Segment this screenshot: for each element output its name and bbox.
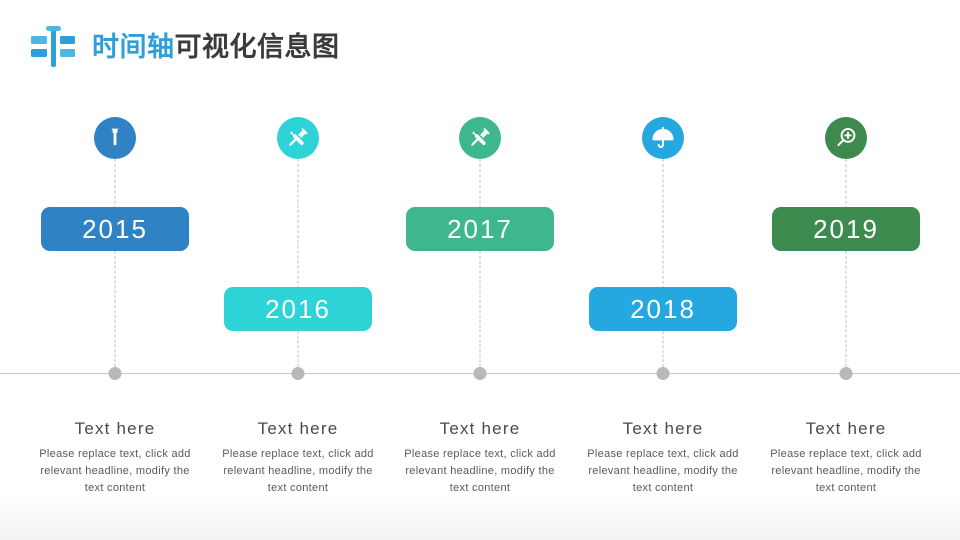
connector-dash-2016 bbox=[298, 159, 299, 289]
caption-body-2017: Please replace text, click add relevant … bbox=[387, 446, 573, 497]
year-pill-2019[interactable]: 2019 bbox=[772, 207, 920, 251]
page-title-accent: 时间轴 bbox=[92, 32, 175, 62]
connector-dash-lower-2016 bbox=[298, 331, 299, 367]
timeline-logo-icon bbox=[30, 26, 76, 68]
connector-dash-2018 bbox=[663, 159, 664, 289]
caption-2019: Text here Please replace text, click add… bbox=[753, 420, 939, 497]
connector-dash-lower-2017 bbox=[480, 251, 481, 367]
caption-2018: Text here Please replace text, click add… bbox=[570, 420, 756, 497]
marker-circle-2018[interactable] bbox=[642, 117, 684, 159]
year-pill-2016[interactable]: 2016 bbox=[224, 287, 372, 331]
axis-dot-2016 bbox=[292, 367, 305, 380]
axis-dot-2017 bbox=[474, 367, 487, 380]
year-label-2017: 2017 bbox=[447, 216, 513, 242]
timeline-item-2019[interactable]: 2019 Text here Please replace text, clic… bbox=[753, 0, 939, 540]
page-title-rest: 可视化信息图 bbox=[175, 32, 340, 62]
year-label-2015: 2015 bbox=[82, 216, 148, 242]
connector-dash-lower-2019 bbox=[846, 251, 847, 367]
caption-2015: Text here Please replace text, click add… bbox=[22, 420, 208, 497]
year-pill-2015[interactable]: 2015 bbox=[41, 207, 189, 251]
page-header: 时间轴可视化信息图 bbox=[30, 24, 340, 70]
caption-title-2018: Text here bbox=[570, 420, 756, 437]
caption-body-2018: Please replace text, click add relevant … bbox=[570, 446, 756, 497]
caption-body-2016: Please replace text, click add relevant … bbox=[205, 446, 391, 497]
caption-title-2019: Text here bbox=[753, 420, 939, 437]
year-label-2016: 2016 bbox=[265, 296, 331, 322]
connector-dash-lower-2015 bbox=[115, 251, 116, 367]
year-pill-2018[interactable]: 2018 bbox=[589, 287, 737, 331]
caption-title-2017: Text here bbox=[387, 420, 573, 437]
caption-body-2019: Please replace text, click add relevant … bbox=[753, 446, 939, 497]
connector-dash-2015 bbox=[115, 159, 116, 209]
year-label-2019: 2019 bbox=[813, 216, 879, 242]
timeline-item-2018[interactable]: 2018 Text here Please replace text, clic… bbox=[570, 0, 756, 540]
page-title: 时间轴可视化信息图 bbox=[92, 34, 340, 61]
year-pill-2017[interactable]: 2017 bbox=[406, 207, 554, 251]
axis-dot-2018 bbox=[657, 367, 670, 380]
timeline-item-2015[interactable]: 2015 Text here Please replace text, clic… bbox=[22, 0, 208, 540]
connector-dash-2019 bbox=[846, 159, 847, 209]
marker-circle-2015[interactable] bbox=[94, 117, 136, 159]
connector-dash-lower-2018 bbox=[663, 331, 664, 367]
marker-circle-2019[interactable] bbox=[825, 117, 867, 159]
marker-circle-2016[interactable] bbox=[277, 117, 319, 159]
caption-title-2016: Text here bbox=[205, 420, 391, 437]
axis-dot-2015 bbox=[109, 367, 122, 380]
axis-dot-2019 bbox=[840, 367, 853, 380]
timeline-item-2017[interactable]: 2017 Text here Please replace text, clic… bbox=[387, 0, 573, 540]
caption-2016: Text here Please replace text, click add… bbox=[205, 420, 391, 497]
caption-2017: Text here Please replace text, click add… bbox=[387, 420, 573, 497]
timeline-item-2016[interactable]: 2016 Text here Please replace text, clic… bbox=[205, 0, 391, 540]
caption-body-2015: Please replace text, click add relevant … bbox=[22, 446, 208, 497]
connector-dash-2017 bbox=[480, 159, 481, 209]
timeline-track: 2015 Text here Please replace text, clic… bbox=[0, 0, 960, 540]
caption-title-2015: Text here bbox=[22, 420, 208, 437]
year-label-2018: 2018 bbox=[630, 296, 696, 322]
marker-circle-2017[interactable] bbox=[459, 117, 501, 159]
